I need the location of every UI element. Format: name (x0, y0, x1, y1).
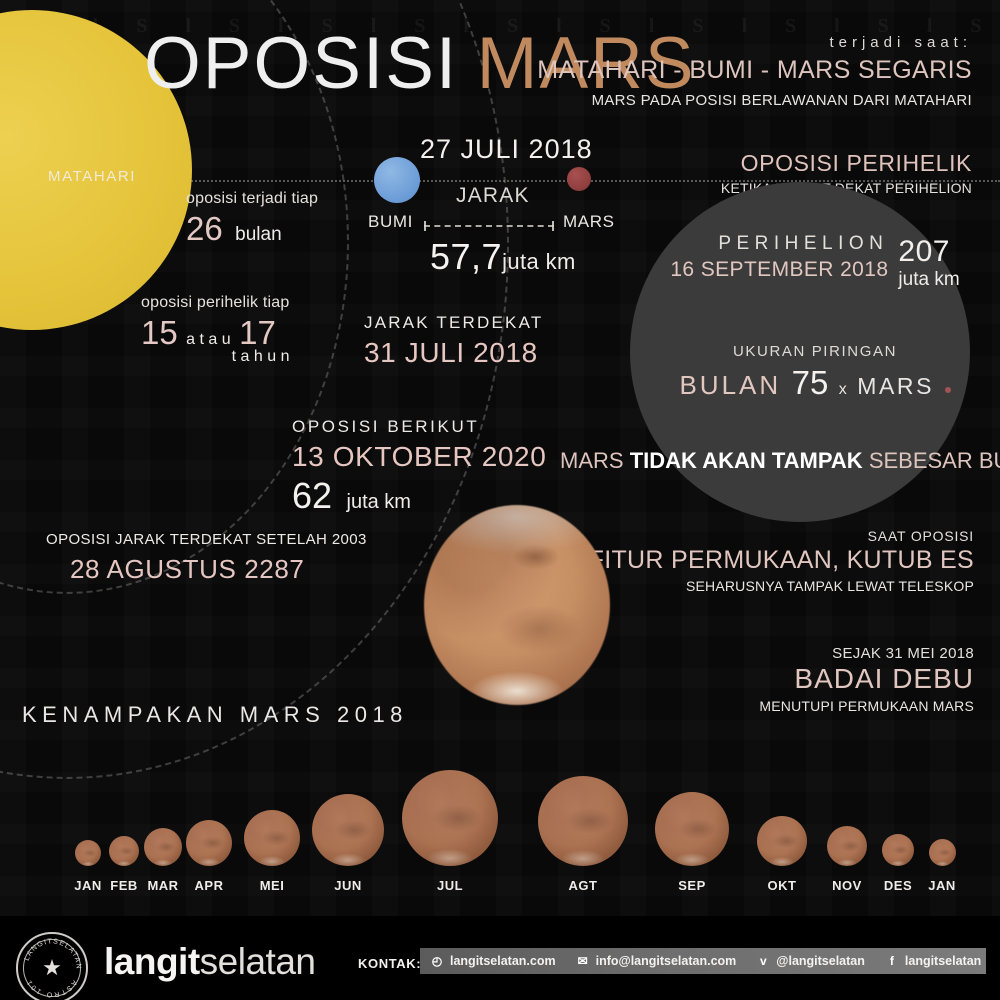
sun-label: MATAHARI (48, 168, 136, 185)
kenampakan-title: KENAMPAKAN MARS 2018 (22, 702, 408, 728)
mars-disk-label-jan: JAN (928, 878, 956, 893)
mars-disk-label-mei: MEI (260, 878, 285, 893)
ukuran-mars-label: MARS (857, 373, 934, 399)
mars-size-chart (0, 770, 1000, 870)
block-unit: juta km (347, 491, 411, 513)
distance-label: JARAK (456, 184, 530, 208)
contact-bar: ◴langitselatan.com✉info@langitselatan.co… (420, 948, 986, 974)
block-ukuran-piringan: UKURAN PIRINGAN BULAN 75 x MARS (660, 343, 970, 402)
contact-facebook[interactable]: flangitselatan (885, 954, 981, 968)
stat-number: 26 (186, 210, 223, 247)
contact-text: langitselatan (905, 954, 981, 968)
mars-disk-jun (312, 794, 384, 866)
mars-disk-agt (538, 776, 628, 866)
block-eyebrow: OPOSISI BERIKUT (292, 417, 546, 437)
earth-label: BUMI (368, 212, 413, 232)
contact-text: info@langitselatan.com (596, 954, 737, 968)
block-setelah-2003: OPOSISI JARAK TERDEKAT SETELAH 2003 28 A… (46, 531, 367, 585)
block-eyebrow: OPOSISI JARAK TERDEKAT SETELAH 2003 (46, 531, 367, 548)
mars-disk-label-okt: OKT (768, 878, 797, 893)
mars-disk-mar (144, 828, 182, 866)
mars-disk-des (882, 834, 914, 866)
block-jarak-terdekat: JARAK TERDEKAT 31 JULI 2018 (364, 313, 543, 369)
contact-text: langitselatan.com (450, 954, 556, 968)
stat-number-low: 15 (141, 314, 178, 351)
statement-mars-not-as-big: MARS TIDAK AKAN TAMPAK SEBESAR BULAN (560, 448, 980, 474)
mars-disk-jan (75, 840, 101, 866)
ukuran-caption: UKURAN PIRINGAN (660, 343, 970, 360)
mars-disk-jul (402, 770, 498, 866)
perihelik-title: OPOSISI PERIHELIK (721, 150, 972, 177)
stat-oposisi-tiap: oposisi terjadi tiap 26 bulan (186, 190, 318, 248)
badai-eyebrow: SEJAK 31 MEI 2018 (759, 645, 974, 662)
mail-icon: ✉ (576, 954, 590, 968)
brand-selatan: selatan (200, 941, 316, 982)
mars-disk-nov (827, 826, 867, 866)
earth-planet-icon (374, 157, 420, 203)
rss-icon: ◴ (430, 954, 444, 968)
mars-disk-jan (929, 839, 956, 866)
perihelion-unit: juta km (898, 269, 959, 291)
footer: ★ LANGITSELATAN ASTRO 101 langitselatan … (0, 916, 1000, 1000)
mars-label: MARS (563, 212, 615, 232)
mars-disk-okt (757, 816, 807, 866)
kontak-label: KONTAK: (358, 956, 421, 971)
statement-bold: TIDAK AKAN TAMPAK (630, 448, 863, 473)
infographic-poster: lSlSlSlSlSlSlSlSlSlSlSlSlSlSlSlSlSlSlSlS… (0, 0, 1000, 1000)
fitur-eyebrow: SAAT OPOSISI (589, 528, 974, 544)
brand-langit: langit (104, 941, 200, 982)
contact-text: @langitselatan (776, 954, 865, 968)
mars-disk-label-des: DES (884, 878, 912, 893)
perihelion-label: PERIHELION (670, 233, 888, 255)
fitur-headline: FITUR PERMUKAAN, KUTUB ES (589, 546, 974, 575)
mars-disk-label-jul: JUL (437, 878, 463, 893)
opposition-date: 27 JULI 2018 (420, 134, 593, 165)
ukuran-bulan-label: BULAN (679, 370, 781, 400)
brand-wordmark: langitselatan (104, 941, 315, 983)
block-fitur-permukaan: SAAT OPOSISI FITUR PERMUKAAN, KUTUB ES S… (589, 528, 974, 594)
mars-disk-label-jan: JAN (74, 878, 102, 893)
mars-photo (424, 505, 610, 705)
contact-mail[interactable]: ✉info@langitselatan.com (576, 954, 737, 968)
badai-headline: BADAI DEBU (759, 663, 974, 695)
block-terjadi-saat: terjadi saat: MATAHARI - BUMI - MARS SEG… (537, 34, 972, 109)
contact-twitter[interactable]: ᴠ@langitselatan (756, 954, 865, 968)
mars-disk-feb (109, 836, 139, 866)
mars-disk-label-agt: AGT (569, 878, 598, 893)
stat-number-high: 17 (239, 314, 276, 351)
mars-disk-mei (244, 810, 300, 866)
twitter-icon: ᴠ (756, 954, 770, 968)
alignment-sub: MARS PADA POSISI BERLAWANAN DARI MATAHAR… (537, 92, 972, 109)
fitur-sub: SEHARUSNYA TAMPAK LEWAT TELESKOP (589, 578, 974, 594)
facebook-icon: f (885, 954, 899, 968)
block-eyebrow: JARAK TERDEKAT (364, 313, 543, 333)
statement-post: SEBESAR BULAN (863, 448, 1000, 473)
stat-perihelik-tiap: oposisi perihelik tiap 15 a t a u 17 t a… (141, 294, 289, 366)
distance-number: 57,7 (430, 236, 502, 277)
block-badai-debu: SEJAK 31 MEI 2018 BADAI DEBU MENUTUPI PE… (759, 645, 974, 714)
mars-planet-icon (567, 167, 591, 191)
badai-sub: MENUTUPI PERMUKAAN MARS (759, 698, 974, 714)
alignment-statement: MATAHARI - BUMI - MARS SEGARIS (537, 56, 972, 85)
title-part-oposisi: OPOSISI (144, 23, 458, 104)
mars-disk-label-feb: FEB (110, 878, 138, 893)
block-headline: 13 OKTOBER 2020 (292, 441, 546, 473)
mars-disk-label-apr: APR (195, 878, 224, 893)
block-headline: 31 JULI 2018 (364, 337, 543, 369)
ukuran-factor: 75 (792, 364, 829, 401)
langitselatan-logo-icon: ★ LANGITSELATAN ASTRO 101 (16, 932, 88, 1000)
tiny-mars-dot-icon (945, 387, 951, 393)
terjadi-saat-label: terjadi saat: (537, 34, 972, 51)
distance-bracket (424, 221, 554, 231)
contact-rss[interactable]: ◴langitselatan.com (430, 954, 556, 968)
distance-unit: juta km (502, 249, 576, 274)
stat-unit: t a h u n (232, 348, 290, 365)
mars-disk-label-nov: NOV (832, 878, 862, 893)
mars-disk-sep (655, 792, 729, 866)
perihelion-number: 207 (898, 235, 959, 269)
statement-pre: MARS (560, 448, 630, 473)
stat-conjunction: a t a u (186, 331, 230, 348)
distance-value-group: 57,7juta km (430, 236, 576, 278)
mars-disk-apr (186, 820, 232, 866)
block-headline: 28 AGUSTUS 2287 (70, 554, 367, 585)
mars-disk-label-mar: MAR (147, 878, 178, 893)
svg-text:LANGITSELATAN: LANGITSELATAN (23, 937, 83, 970)
mars-disk-label-jun: JUN (334, 878, 362, 893)
mars-disk-label-sep: SEP (678, 878, 706, 893)
perihelion-group: PERIHELION 16 SEPTEMBER 2018 207 juta km (660, 233, 970, 291)
block-number: 62 (292, 475, 332, 516)
block-oposisi-berikut: OPOSISI BERIKUT 13 OKTOBER 2020 62 juta … (292, 417, 546, 517)
stat-unit: bulan (235, 224, 282, 245)
perihelion-date: 16 SEPTEMBER 2018 (670, 258, 888, 282)
stat-caption: oposisi terjadi tiap (186, 190, 318, 208)
svg-text:ASTRO 101: ASTRO 101 (25, 978, 79, 999)
ukuran-times: x (839, 381, 847, 398)
stat-caption: oposisi perihelik tiap (141, 294, 289, 312)
